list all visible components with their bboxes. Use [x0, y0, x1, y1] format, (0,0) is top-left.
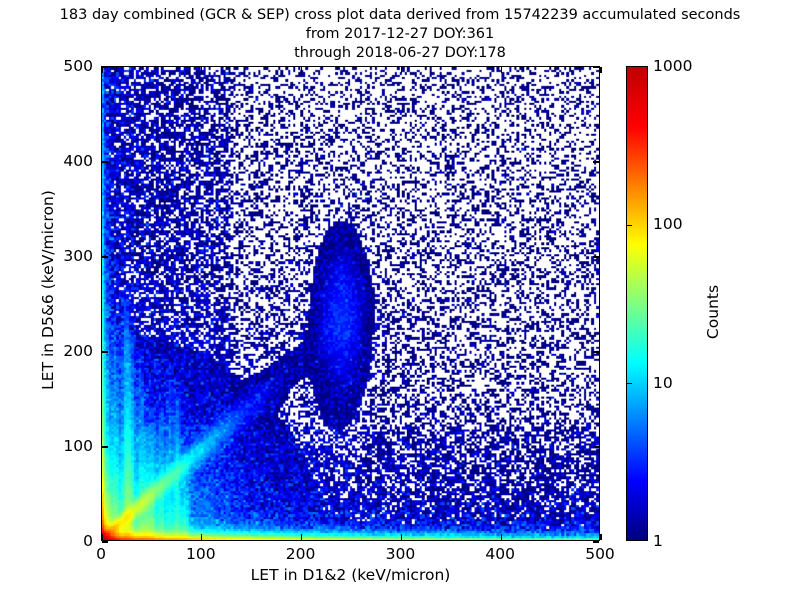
x-tick-label-200: 200: [286, 545, 316, 563]
x-tick-label-500: 500: [585, 545, 615, 563]
x-tick-label-400: 400: [485, 545, 515, 563]
y-axis-label: LET in D5&6 (keV/micron): [39, 140, 57, 440]
let-cross-plot-figure: 183 day combined (GCR & SEP) cross plot …: [0, 0, 800, 600]
colorbar: [626, 66, 648, 541]
colorbar-gradient-canvas: [627, 67, 647, 540]
colorbar-tick-label-10: 10: [653, 374, 673, 392]
x-tick-400: [501, 534, 502, 540]
x-tick-top-0: [101, 67, 102, 73]
title-line-1: 183 day combined (GCR & SEP) cross plot …: [0, 6, 800, 25]
y-tick-label-400: 400: [0, 152, 93, 170]
colorbar-tick-100: [627, 225, 632, 226]
y-tick-right-400: [593, 161, 599, 162]
colorbar-label: Counts: [704, 162, 722, 462]
y-tick-label-300: 300: [0, 247, 93, 265]
y-tick-right-500: [593, 66, 599, 67]
x-tick-500: [600, 534, 601, 540]
x-tick-0: [101, 534, 102, 540]
colorbar-tick-label-1: 1: [653, 532, 663, 550]
y-tick-300: [102, 256, 108, 257]
x-tick-label-0: 0: [96, 545, 106, 563]
y-tick-right-300: [593, 256, 599, 257]
y-tick-right-0: [593, 541, 599, 542]
y-tick-label-500: 500: [0, 57, 93, 75]
y-tick-500: [102, 66, 108, 67]
x-tick-label-300: 300: [386, 545, 416, 563]
y-tick-0: [102, 541, 108, 542]
x-tick-top-100: [201, 67, 202, 73]
colorbar-tick-10: [627, 383, 632, 384]
plot-axes: [101, 66, 600, 541]
y-tick-right-200: [593, 351, 599, 352]
x-tick-200: [301, 534, 302, 540]
x-tick-label-100: 100: [186, 545, 216, 563]
x-axis-label: LET in D1&2 (keV/micron): [101, 566, 600, 584]
x-tick-300: [401, 534, 402, 540]
x-tick-top-300: [401, 67, 402, 73]
y-tick-100: [102, 446, 108, 447]
x-tick-top-400: [501, 67, 502, 73]
y-tick-right-100: [593, 446, 599, 447]
y-tick-label-0: 0: [0, 532, 93, 550]
colorbar-tick-label-100: 100: [653, 215, 683, 233]
density-heatmap-canvas: [102, 67, 599, 540]
x-tick-100: [201, 534, 202, 540]
colorbar-tick-label-1000: 1000: [653, 57, 692, 75]
chart-title: 183 day combined (GCR & SEP) cross plot …: [0, 6, 800, 63]
y-tick-label-100: 100: [0, 437, 93, 455]
y-tick-200: [102, 351, 108, 352]
x-tick-top-200: [301, 67, 302, 73]
y-tick-label-200: 200: [0, 342, 93, 360]
x-tick-top-500: [600, 67, 601, 73]
y-tick-400: [102, 161, 108, 162]
title-line-2: from 2017-12-27 DOY:361: [0, 25, 800, 44]
